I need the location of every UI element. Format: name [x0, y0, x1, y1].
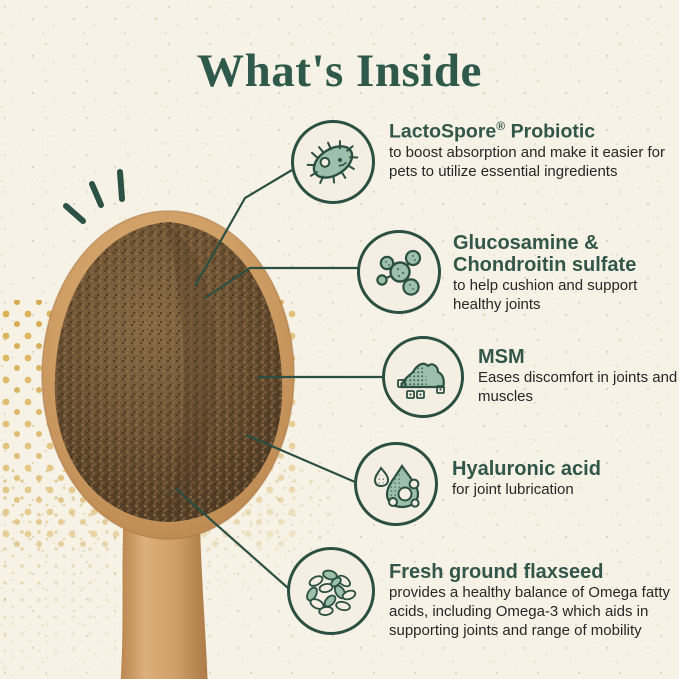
callout-text: Hyaluronic acid for joint lubrication	[438, 442, 601, 500]
callout-body: provides a healthy balance of Omega fatt…	[389, 584, 679, 641]
infographic-page: What's Inside	[0, 0, 679, 679]
molecule-icon	[357, 230, 441, 314]
callout-body: for joint lubrication	[452, 481, 601, 500]
callout-text: MSM Eases discomfort in joints and muscl…	[464, 336, 679, 407]
callout-flaxseed: Fresh ground flaxseed provides a healthy…	[287, 547, 679, 641]
water-droplet-icon	[354, 442, 438, 526]
heading-main: LactoSpore	[389, 121, 496, 143]
callout-body: Eases discomfort in joints and muscles	[478, 369, 679, 407]
callout-heading: MSM	[478, 346, 679, 368]
callout-heading: Hyaluronic acid	[452, 458, 601, 480]
registered-mark: ®	[496, 119, 505, 133]
heading-rest: Probiotic	[505, 121, 595, 143]
flaxseed-icon	[287, 547, 375, 635]
callout-body: to boost absorption and make it easier f…	[389, 144, 679, 182]
powder-mound-icon	[382, 336, 464, 418]
callout-heading: LactoSpore® Probiotic	[389, 120, 679, 143]
callout-body: to help cushion and support healthy join…	[453, 277, 679, 315]
callout-lactospore: LactoSpore® Probiotic to boost absorptio…	[291, 120, 679, 204]
bacteria-icon	[291, 120, 375, 204]
callout-heading: Fresh ground flaxseed	[389, 561, 679, 583]
callout-glucosamine: Glucosamine & Chondroitin sulfate to hel…	[357, 230, 679, 315]
callout-text: Glucosamine & Chondroitin sulfate to hel…	[441, 230, 679, 315]
connector-lines	[175, 170, 382, 588]
callout-hyaluronic-acid: Hyaluronic acid for joint lubrication	[354, 442, 601, 526]
callout-heading: Glucosamine & Chondroitin sulfate	[453, 232, 679, 276]
sparkle-dashes	[66, 172, 122, 221]
callout-text: Fresh ground flaxseed provides a healthy…	[375, 547, 679, 641]
page-title: What's Inside	[0, 44, 679, 98]
callout-msm: MSM Eases discomfort in joints and muscl…	[382, 336, 679, 418]
callout-text: LactoSpore® Probiotic to boost absorptio…	[375, 120, 679, 182]
gold-halftone-dots	[0, 300, 330, 679]
heading-line-2: Chondroitin sulfate	[453, 254, 679, 276]
heading-line-1: Glucosamine &	[453, 232, 679, 254]
